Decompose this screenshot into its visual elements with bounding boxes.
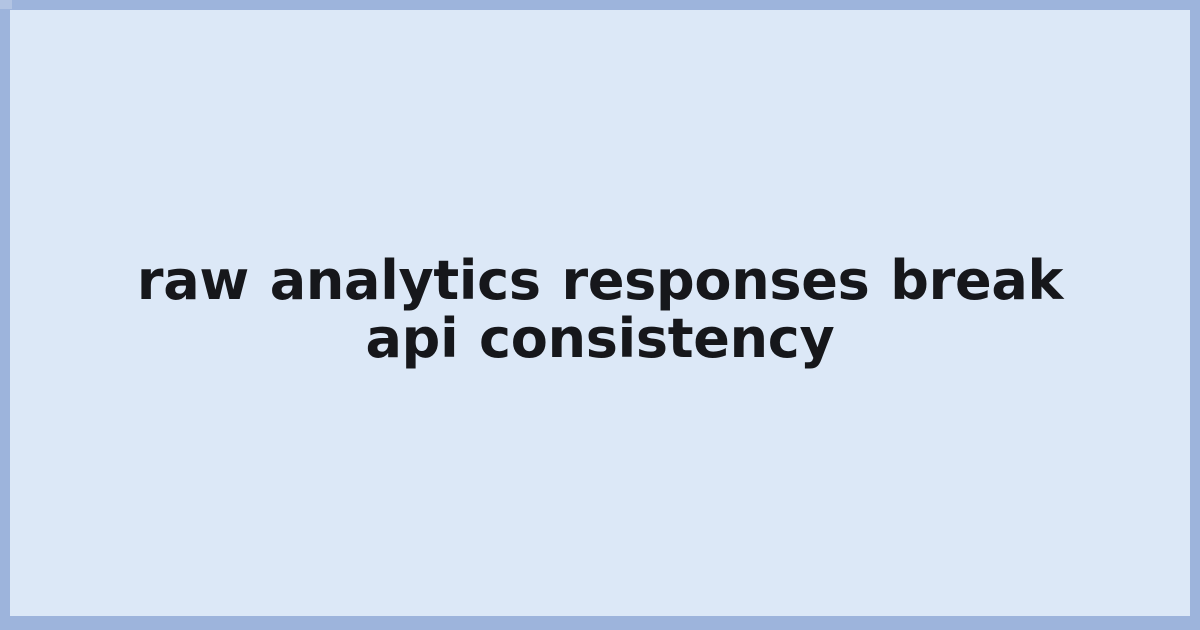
corner-artifact [0, 0, 12, 9]
page-title: raw analytics responses break api consis… [130, 252, 1070, 375]
card-inner-panel: raw analytics responses break api consis… [10, 10, 1190, 616]
social-card: raw analytics responses break api consis… [0, 0, 1200, 630]
